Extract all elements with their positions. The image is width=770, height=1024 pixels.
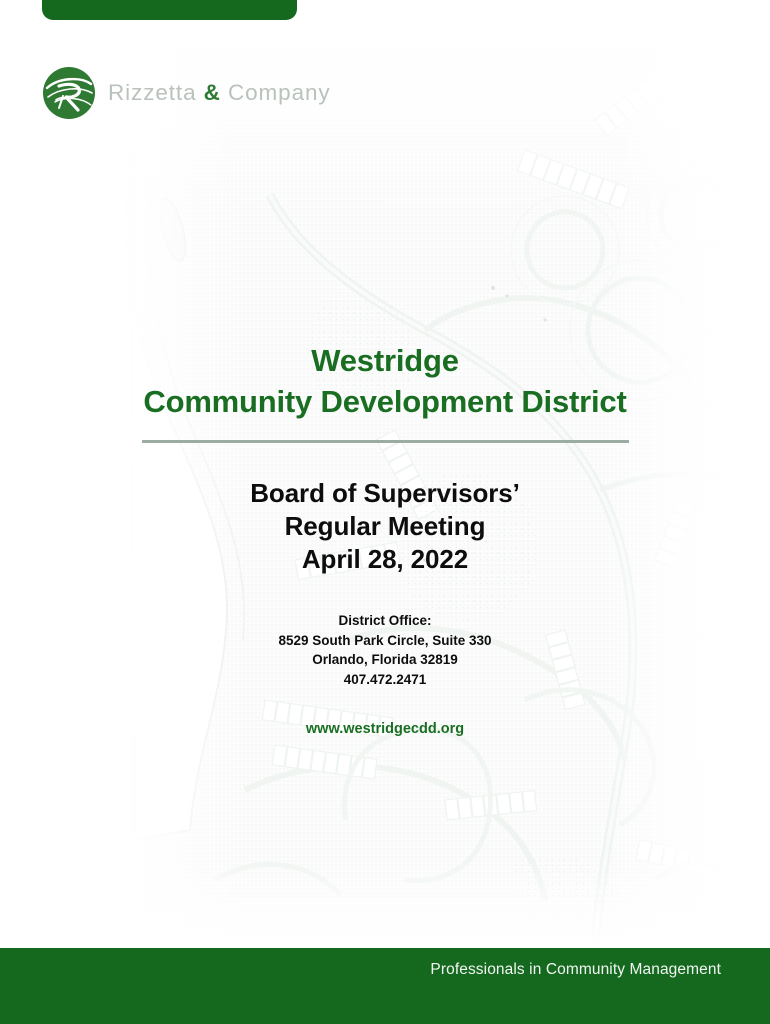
- district-title-line-1: Westridge: [0, 340, 770, 381]
- district-office-phone: 407.472.2471: [0, 670, 770, 690]
- top-green-tab: [42, 0, 297, 20]
- title-divider-rule: [142, 440, 629, 443]
- district-office-city-state-zip: Orlando, Florida 32819: [0, 650, 770, 670]
- brand-lockup: Rizzetta & Company: [42, 66, 331, 120]
- cover-page: Rizzetta & Company Westridge Community D…: [0, 0, 770, 1024]
- meeting-heading: Board of Supervisors’ Regular Meeting Ap…: [0, 477, 770, 576]
- watermark-fade-right: [605, 0, 735, 950]
- meeting-date: April 28, 2022: [0, 543, 770, 576]
- district-office-street: 8529 South Park Circle, Suite 330: [0, 631, 770, 651]
- district-title-line-2: Community Development District: [0, 381, 770, 422]
- meeting-type-line: Regular Meeting: [0, 510, 770, 543]
- district-office-block: District Office: 8529 South Park Circle,…: [0, 611, 770, 689]
- district-website-link[interactable]: www.westridgecdd.org: [0, 721, 770, 737]
- site-plan-watermark: [95, 0, 735, 950]
- page-title: Westridge Community Development District: [0, 340, 770, 443]
- brand-name-part2: Company: [221, 80, 331, 105]
- footer-tagline: Professionals in Community Management: [430, 961, 721, 979]
- brand-name-part1: Rizzetta: [108, 80, 204, 105]
- rizzetta-circle-r-logo-icon: [42, 66, 96, 120]
- watermark-fade-left: [95, 0, 245, 950]
- meeting-body-line: Board of Supervisors’: [0, 477, 770, 510]
- footer-bar: Professionals in Community Management: [0, 948, 770, 1024]
- brand-ampersand: &: [204, 80, 221, 105]
- brand-wordmark: Rizzetta & Company: [108, 80, 331, 106]
- watermark-fade-bottom: [95, 860, 735, 950]
- district-office-heading: District Office:: [0, 611, 770, 631]
